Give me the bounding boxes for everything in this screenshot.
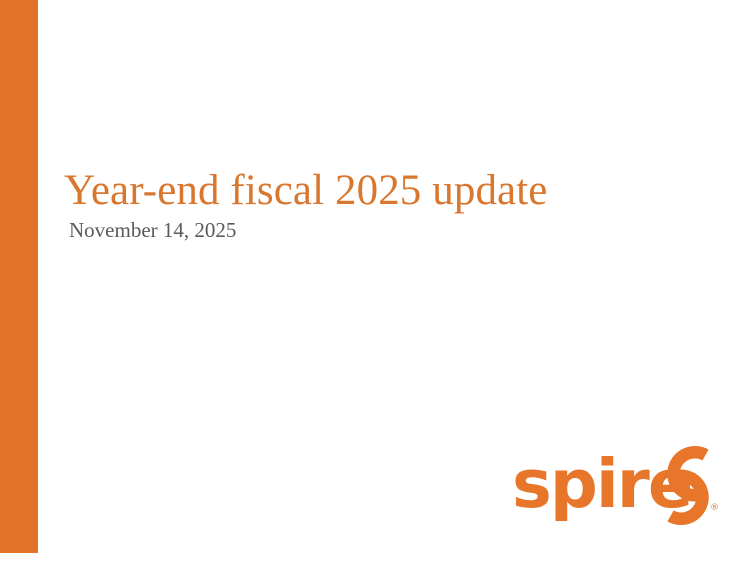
spire-s-arc-mark-icon <box>651 442 725 530</box>
slide-date-subtitle: November 14, 2025 <box>64 216 684 244</box>
title-slide: Year-end fiscal 2025 update November 14,… <box>0 0 750 562</box>
spire-logo: spire ® <box>512 440 730 535</box>
left-accent-bar <box>0 0 38 553</box>
page-title: Year-end fiscal 2025 update <box>64 166 684 216</box>
title-block: Year-end fiscal 2025 update November 14,… <box>64 166 684 244</box>
registered-trademark-symbol: ® <box>710 504 719 513</box>
